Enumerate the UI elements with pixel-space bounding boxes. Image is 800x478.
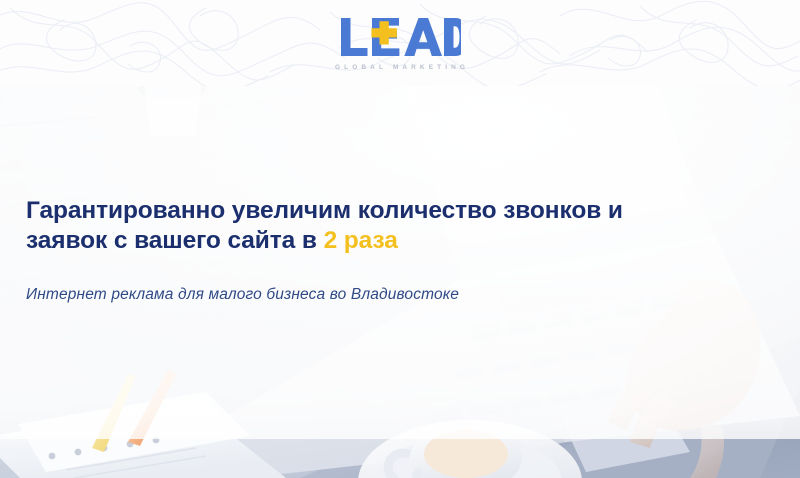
- headline-line-2-plain: заявок с вашего сайта в: [26, 227, 324, 254]
- lead-logo[interactable]: [339, 16, 461, 58]
- logo-letter-l: [341, 18, 368, 56]
- hero-section: Гарантированно увеличим количество звонк…: [0, 86, 800, 478]
- logo-letter-a: [404, 18, 442, 56]
- headline-line-1: Гарантированно увеличим количество звонк…: [26, 197, 623, 224]
- hero-overlay-fade: [0, 383, 800, 439]
- headline-accent: 2 раза: [324, 227, 398, 254]
- site-header: GLOBAL MARKETING: [0, 0, 800, 86]
- logo-letter-d: [444, 18, 461, 56]
- logo-tagline: GLOBAL MARKETING: [331, 64, 469, 71]
- hero-headline: Гарантированно увеличим количество звонк…: [26, 196, 726, 256]
- hero-copy: Гарантированно увеличим количество звонк…: [26, 196, 726, 306]
- hero-subheadline: Интернет реклама для малого бизнеса во В…: [26, 284, 726, 306]
- header-content: GLOBAL MARKETING: [0, 0, 800, 86]
- landing-page: GLOBAL MARKETING: [0, 0, 800, 478]
